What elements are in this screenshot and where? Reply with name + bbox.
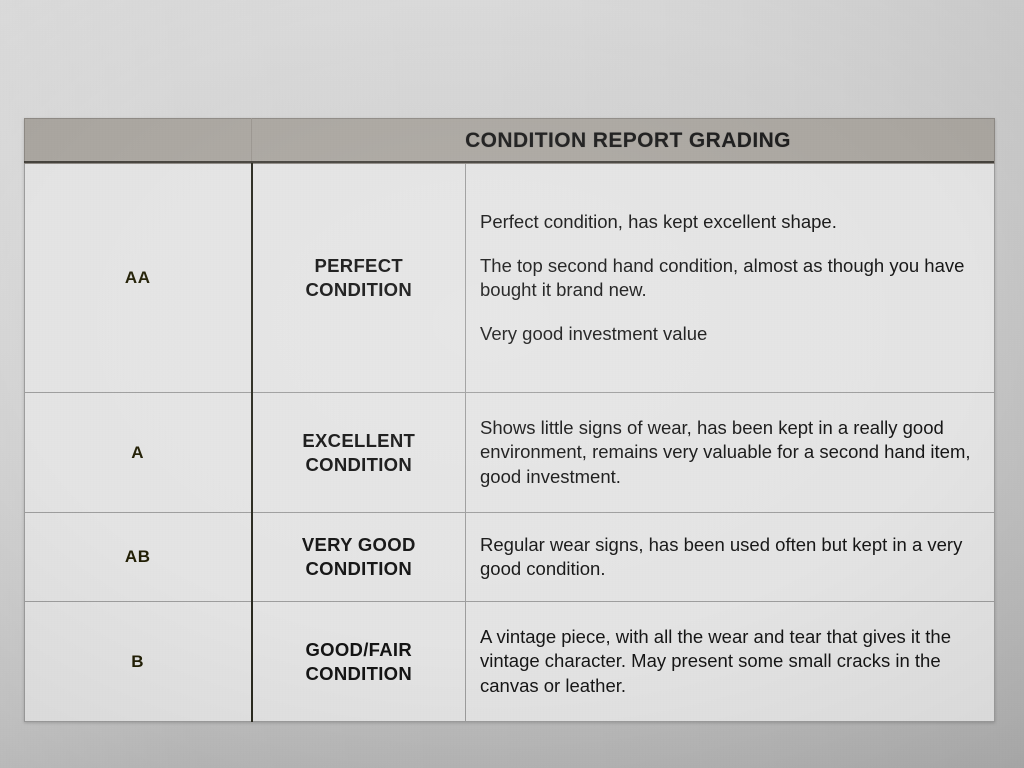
table-row: A EXCELLENT CONDITION Shows little signs…	[25, 393, 995, 513]
condition-label-cell-a: EXCELLENT CONDITION	[252, 393, 466, 513]
description-cell-ab: Regular wear signs, has been used often …	[466, 513, 995, 602]
table-title-cell: CONDITION REPORT GRADING	[252, 119, 995, 164]
condition-label-line: CONDITION	[257, 662, 462, 686]
grade-cell-a: A	[25, 393, 252, 513]
description-cell-a: Shows little signs of wear, has been kep…	[466, 393, 995, 513]
grade-code: B	[131, 652, 144, 671]
table-row: AA PERFECT CONDITION Perfect condition, …	[25, 164, 995, 393]
page-title: CONDITION REPORT GRADING	[252, 119, 994, 163]
grade-cell-b: B	[25, 602, 252, 722]
grade-cell-aa: AA	[25, 164, 252, 393]
table-body: AA PERFECT CONDITION Perfect condition, …	[25, 164, 995, 722]
condition-label-cell-b: GOOD/FAIR CONDITION	[252, 602, 466, 722]
table-header-row: CONDITION REPORT GRADING	[25, 119, 995, 164]
description-paragraph: The top second hand condition, almost as…	[480, 254, 980, 302]
grade-cell-ab: AB	[25, 513, 252, 602]
description-paragraph: Perfect condition, has kept excellent sh…	[480, 210, 980, 234]
table-row: AB VERY GOOD CONDITION Regular wear sign…	[25, 513, 995, 602]
condition-label-cell-aa: PERFECT CONDITION	[252, 164, 466, 393]
description-cell-aa: Perfect condition, has kept excellent sh…	[466, 164, 995, 393]
condition-label-line: CONDITION	[257, 278, 462, 302]
header-bottom-rule	[24, 161, 994, 163]
grade-code: A	[131, 443, 144, 462]
condition-label-cell-ab: VERY GOOD CONDITION	[252, 513, 466, 602]
condition-label-line: CONDITION	[257, 557, 462, 581]
description-cell-b: A vintage piece, with all the wear and t…	[466, 602, 995, 722]
photo-canvas: CONDITION REPORT GRADING AA PERFECT COND…	[0, 0, 1024, 768]
description-paragraph: A vintage piece, with all the wear and t…	[480, 625, 980, 697]
grade-code: AB	[125, 547, 151, 566]
condition-label-line: EXCELLENT	[257, 429, 462, 453]
table-row: B GOOD/FAIR CONDITION A vintage piece, w…	[25, 602, 995, 722]
description-paragraph: Very good investment value	[480, 322, 980, 346]
condition-label-line: PERFECT	[257, 254, 462, 278]
description-paragraph: Regular wear signs, has been used often …	[480, 533, 980, 581]
condition-label-line: GOOD/FAIR	[257, 638, 462, 662]
condition-grading-table: CONDITION REPORT GRADING AA PERFECT COND…	[24, 118, 995, 722]
condition-label-line: VERY GOOD	[257, 533, 462, 557]
table-header-left-blank	[25, 119, 252, 164]
condition-label-line: CONDITION	[257, 453, 462, 477]
grade-code: AA	[125, 268, 151, 287]
table-header: CONDITION REPORT GRADING	[25, 119, 995, 164]
description-paragraph: Shows little signs of wear, has been kep…	[480, 416, 980, 488]
